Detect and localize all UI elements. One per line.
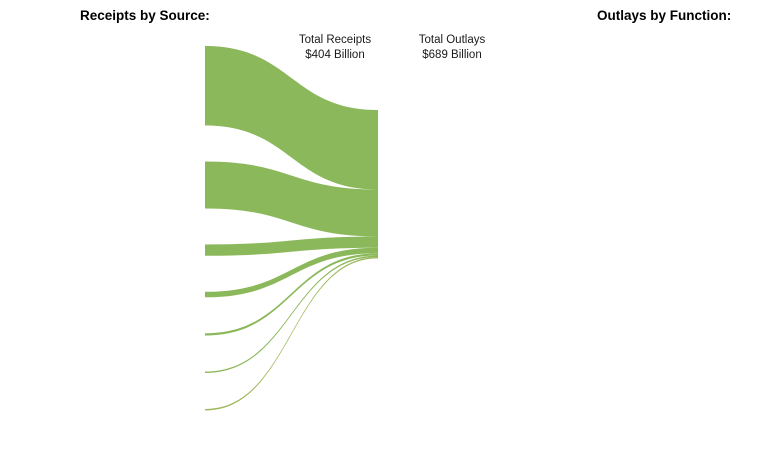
total-outlays-value: $689 Billion <box>422 49 481 61</box>
header-receipts: Receipts by Source: <box>80 8 210 23</box>
total-outlays-label: Total Outlays <box>419 34 486 46</box>
total-receipts-label: Total Receipts <box>299 34 371 46</box>
sankey-diagram: Receipts by Source:Outlays by Function:T… <box>0 0 784 454</box>
receipt-flow-6 <box>205 257 378 410</box>
sankey-canvas: Receipts by Source:Outlays by Function:T… <box>0 0 784 454</box>
total-receipts-value: $404 Billion <box>305 49 364 61</box>
header-outlays: Outlays by Function: <box>597 8 731 23</box>
